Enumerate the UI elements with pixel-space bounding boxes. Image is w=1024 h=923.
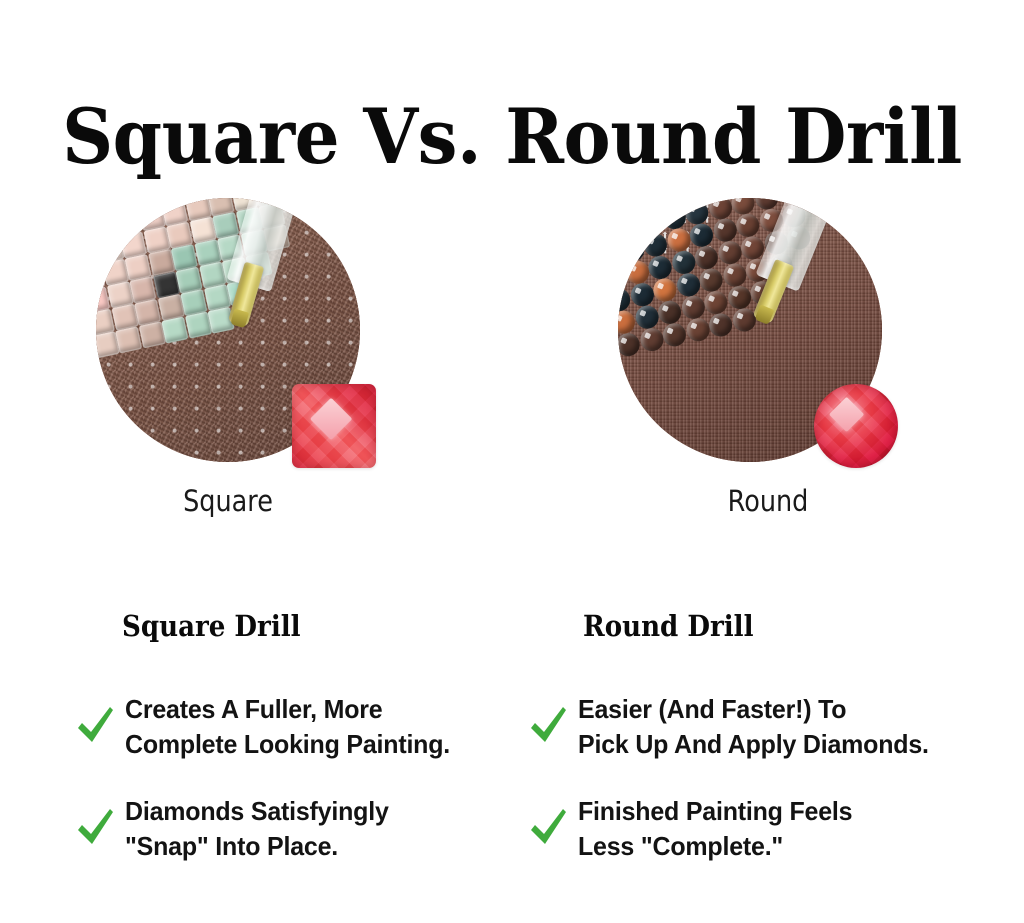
square-benefit-list: Creates A Fuller, More Complete Looking … [75,692,505,896]
round-benefit-list: Easier (And Faster!) To Pick Up And Appl… [528,692,958,896]
gem-facets [814,384,898,468]
round-photo-caption: Round [543,483,994,519]
bead [684,316,711,343]
bead [661,321,688,348]
list-item: Finished Painting Feels Less "Complete." [528,794,958,876]
check-icon [75,704,115,748]
round-drill-heading: Round Drill [583,607,754,645]
bead [161,316,188,343]
benefit-text: Creates A Fuller, More Complete Looking … [125,692,490,762]
check-icon [528,806,568,850]
gem-body [292,384,376,468]
benefit-text: Easier (And Faster!) To Pick Up And Appl… [578,692,943,762]
photo-comparison-row: ☽ ☽ ☽ ☽ ☽ ☽ ☽ ☽ ☽ ☽ ☽ ☽ ☽ ☽ ☽ ☽ ☽ ☽ ☽ ☽ … [0,198,1024,528]
benefit-text: Diamonds Satisfyingly "Snap" Into Place. [125,794,490,864]
square-drill-heading: Square Drill [122,607,301,645]
list-item: Creates A Fuller, More Complete Looking … [75,692,505,774]
bead [707,311,734,338]
round-photo-column: ⬆ ⬆ E ⬆ ⬆ ⬆ ⬆ F ⬆ ⬆ ⬆ ⬆ ⬆ ⬆ ⬆ ⬆ ⬆ ⬆ ⬆ ⬆ … [512,198,1024,528]
bead [618,331,642,358]
bead-empty [798,292,825,319]
round-gem-sample [814,384,898,468]
bead [115,326,142,353]
gem-body [814,384,898,468]
bead-empty [275,292,302,319]
check-icon [528,704,568,748]
list-item: Easier (And Faster!) To Pick Up And Appl… [528,692,958,774]
square-photo-column: ☽ ☽ ☽ ☽ ☽ ☽ ☽ ☽ ☽ ☽ ☽ ☽ ☽ ☽ ☽ ☽ ☽ ☽ ☽ ☽ … [0,198,512,528]
benefit-text: Finished Painting Feels Less "Complete." [578,794,943,864]
page-title: Square Vs. Round Drill [36,95,988,179]
square-photo-stage: ☽ ☽ ☽ ☽ ☽ ☽ ☽ ☽ ☽ ☽ ☽ ☽ ☽ ☽ ☽ ☽ ☽ ☽ ☽ ☽ … [96,198,396,468]
bead [638,326,665,353]
check-icon [75,806,115,850]
square-photo-caption: Square [3,483,454,519]
list-item: Diamonds Satisfyingly "Snap" Into Place. [75,794,505,876]
round-photo-stage: ⬆ ⬆ E ⬆ ⬆ ⬆ ⬆ F ⬆ ⬆ ⬆ ⬆ ⬆ ⬆ ⬆ ⬆ ⬆ ⬆ ⬆ ⬆ … [618,198,918,468]
square-gem-sample [292,384,376,468]
